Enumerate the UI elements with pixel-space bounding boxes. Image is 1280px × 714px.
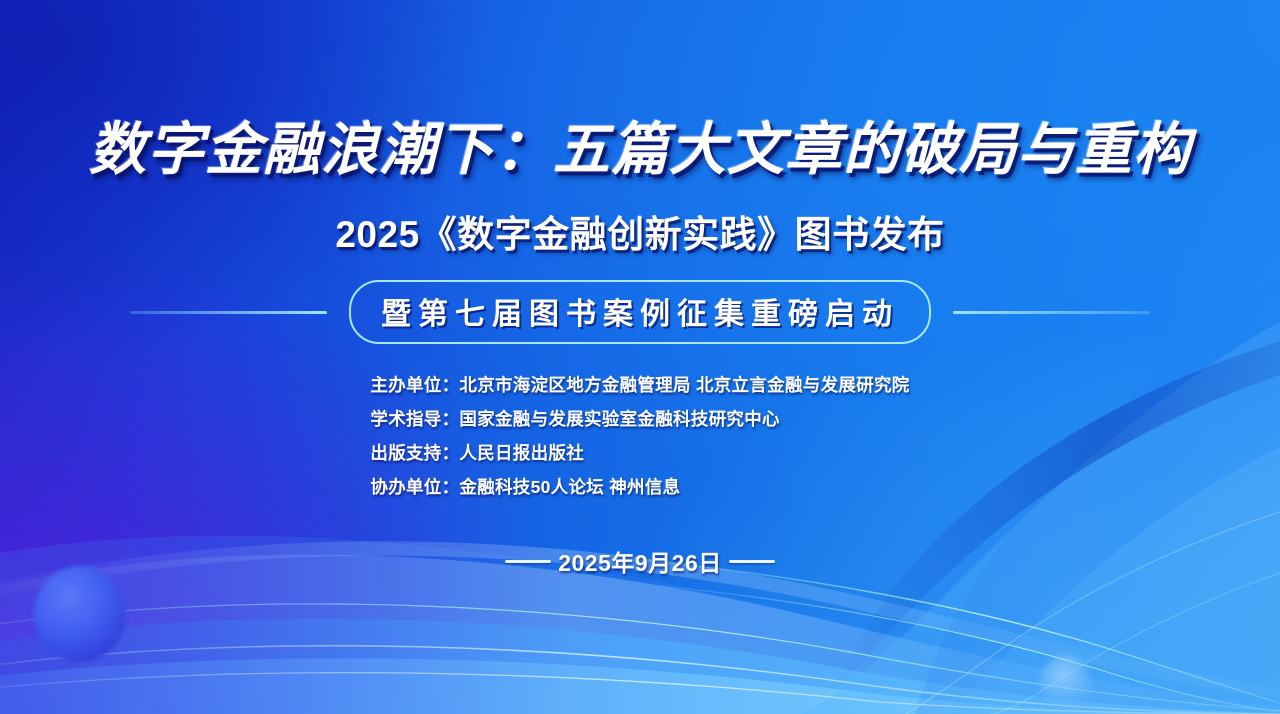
- dash-left-icon: [505, 560, 551, 563]
- status-badge: 暨第七届图书案例征集重磅启动: [349, 280, 931, 344]
- dash-right-icon: [729, 560, 775, 563]
- accent-rule-right: [953, 311, 1150, 314]
- poster-content: 数字金融浪潮下：五篇大文章的破局与重构 2025《数字金融创新实践》图书发布 暨…: [0, 0, 1280, 714]
- accent-rule-left: [130, 311, 327, 314]
- list-item: 主办单位：北京市海淀区地方金融管理局 北京立言金融与发展研究院: [370, 372, 909, 397]
- event-poster: 数字金融浪潮下：五篇大文章的破局与重构 2025《数字金融创新实践》图书发布 暨…: [0, 0, 1280, 714]
- page-title: 数字金融浪潮下：五篇大文章的破局与重构: [89, 104, 1191, 186]
- highlight-banner-row: 暨第七届图书案例征集重磅启动: [130, 280, 1150, 344]
- event-date: 2025年9月26日: [558, 544, 722, 578]
- event-date-row: 2025年9月26日: [505, 544, 775, 578]
- list-item: 出版支持：人民日报出版社: [370, 440, 584, 465]
- list-item: 协办单位：金融科技50人论坛 神州信息: [370, 474, 680, 499]
- organization-list: 主办单位：北京市海淀区地方金融管理局 北京立言金融与发展研究院 学术指导：国家金…: [370, 372, 909, 499]
- list-item: 学术指导：国家金融与发展实验室金融科技研究中心: [370, 406, 779, 431]
- poster-subtitle: 2025《数字金融创新实践》图书发布: [335, 204, 944, 258]
